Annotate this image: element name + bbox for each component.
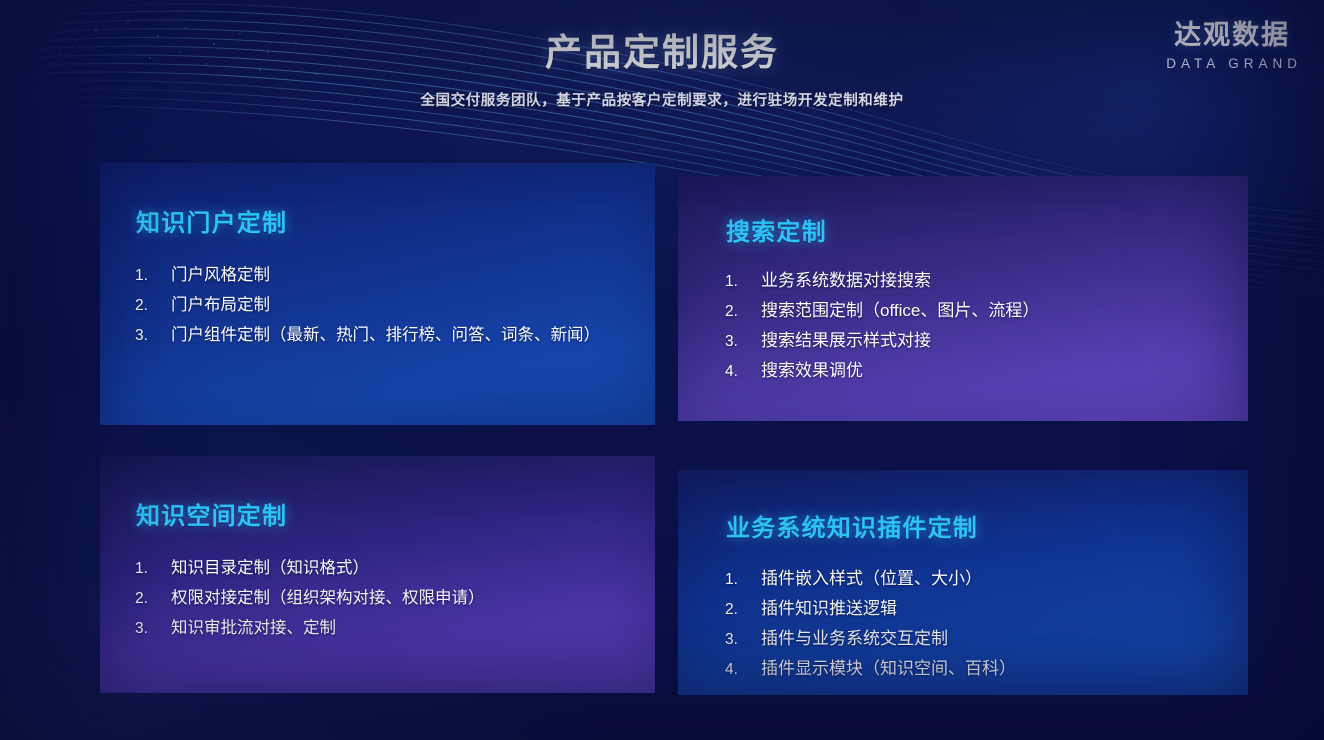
list-item-number: 4.	[725, 363, 761, 381]
list-item-number: 1.	[725, 571, 761, 589]
card-knowledge-space[interactable]: 知识空间定制 1. 知识目录定制（知识格式） 2. 权限对接定制（组织架构对接、…	[100, 456, 655, 693]
page-subtitle: 全国交付服务团队，基于产品按客户定制要求，进行驻场开发定制和维护	[0, 89, 1324, 110]
card-item-list: 1. 知识目录定制（知识格式） 2. 权限对接定制（组织架构对接、权限申请） 3…	[135, 554, 485, 644]
list-item-label: 门户组件定制（最新、热门、排行榜、问答、词条、新闻）	[171, 321, 600, 345]
list-item-number: 2.	[135, 590, 171, 608]
card-item-list: 1. 插件嵌入样式（位置、大小） 2. 插件知识推送逻辑 3. 插件与业务系统交…	[725, 564, 1016, 684]
brand-logo: 达观数据 DATA GRAND	[1162, 22, 1302, 71]
list-item: 1. 插件嵌入样式（位置、大小）	[725, 564, 1016, 594]
card-item-list: 1. 门户风格定制 2. 门户布局定制 3. 门户组件定制（最新、热门、排行榜、…	[135, 261, 600, 351]
list-item: 2. 门户布局定制	[135, 291, 600, 321]
card-knowledge-portal[interactable]: 知识门户定制 1. 门户风格定制 2. 门户布局定制 3. 门户组件定制（最新、…	[100, 163, 655, 425]
list-item-label: 插件知识推送逻辑	[761, 594, 897, 619]
list-item: 1. 门户风格定制	[135, 261, 600, 291]
list-item-label: 知识目录定制（知识格式）	[171, 554, 369, 578]
list-item: 2. 权限对接定制（组织架构对接、权限申请）	[135, 584, 485, 614]
card-title: 知识空间定制	[136, 496, 287, 531]
logo-text-cn: 达观数据	[1162, 22, 1302, 49]
list-item: 2. 插件知识推送逻辑	[725, 594, 1016, 624]
list-item-label: 门户布局定制	[171, 291, 270, 315]
list-item-label: 插件嵌入样式（位置、大小）	[761, 564, 982, 589]
list-item-number: 3.	[725, 333, 761, 351]
card-title: 搜索定制	[726, 212, 827, 247]
list-item-label: 搜索范围定制（office、图片、流程）	[761, 296, 1039, 321]
page-title: 产品定制服务	[0, 22, 1324, 76]
list-item: 1. 业务系统数据对接搜索	[725, 266, 1039, 296]
list-item-label: 搜索效果调优	[761, 356, 863, 381]
list-item-label: 插件显示模块（知识空间、百科）	[761, 654, 1016, 679]
list-item: 2. 搜索范围定制（office、图片、流程）	[725, 296, 1039, 326]
list-item-number: 3.	[725, 631, 761, 649]
list-item-label: 业务系统数据对接搜索	[761, 266, 931, 291]
card-title: 知识门户定制	[136, 203, 287, 238]
list-item-number: 1.	[725, 273, 761, 291]
card-search-customization[interactable]: 搜索定制 1. 业务系统数据对接搜索 2. 搜索范围定制（office、图片、流…	[678, 176, 1248, 421]
list-item: 1. 知识目录定制（知识格式）	[135, 554, 485, 584]
list-item: 3. 门户组件定制（最新、热门、排行榜、问答、词条、新闻）	[135, 321, 600, 351]
list-item: 4. 搜索效果调优	[725, 356, 1039, 386]
list-item-label: 权限对接定制（组织架构对接、权限申请）	[171, 584, 485, 608]
list-item-number: 3.	[135, 327, 171, 345]
logo-text-en: DATA GRAND	[1162, 57, 1302, 71]
list-item-label: 知识审批流对接、定制	[171, 614, 336, 638]
card-title: 业务系统知识插件定制	[726, 508, 978, 543]
card-business-plugin[interactable]: 业务系统知识插件定制 1. 插件嵌入样式（位置、大小） 2. 插件知识推送逻辑 …	[678, 470, 1248, 695]
slide-header: 产品定制服务 全国交付服务团队，基于产品按客户定制要求，进行驻场开发定制和维护 …	[0, 0, 1324, 140]
list-item: 3. 插件与业务系统交互定制	[725, 624, 1016, 654]
list-item-number: 2.	[135, 297, 171, 315]
list-item: 4. 插件显示模块（知识空间、百科）	[725, 654, 1016, 684]
list-item-number: 4.	[725, 661, 761, 679]
list-item-number: 3.	[135, 620, 171, 638]
list-item-number: 1.	[135, 560, 171, 578]
list-item: 3. 搜索结果展示样式对接	[725, 326, 1039, 356]
slide-root: 产品定制服务 全国交付服务团队，基于产品按客户定制要求，进行驻场开发定制和维护 …	[0, 0, 1324, 740]
list-item-number: 2.	[725, 303, 761, 321]
list-item-label: 门户风格定制	[171, 261, 270, 285]
list-item-label: 搜索结果展示样式对接	[761, 326, 931, 351]
list-item-label: 插件与业务系统交互定制	[761, 624, 948, 649]
list-item: 3. 知识审批流对接、定制	[135, 614, 485, 644]
card-item-list: 1. 业务系统数据对接搜索 2. 搜索范围定制（office、图片、流程） 3.…	[725, 266, 1039, 386]
list-item-number: 1.	[135, 267, 171, 285]
list-item-number: 2.	[725, 601, 761, 619]
